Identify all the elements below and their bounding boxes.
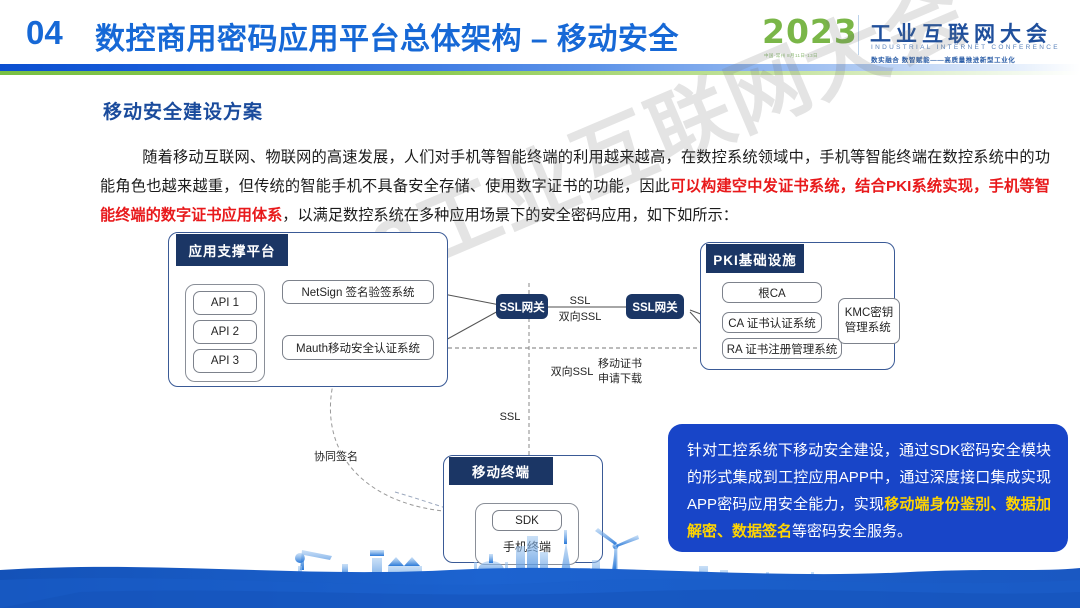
- footer-skyline-decoration: [0, 500, 1080, 608]
- edge-label-mobile-cert: 移动证书 申请下载: [580, 357, 660, 387]
- edge-label-ssl-top: SSL: [560, 294, 600, 309]
- api-2-node[interactable]: API 2: [193, 320, 257, 344]
- netsign-service-node[interactable]: NetSign 签名验签系统: [282, 280, 434, 304]
- group-header-mobile-terminal: 移动终端: [449, 457, 553, 485]
- header-accent-bar-green: [0, 71, 1080, 75]
- api-1-node[interactable]: API 1: [193, 291, 257, 315]
- slide-number: 04: [26, 14, 63, 52]
- header-accent-bar-blue: [0, 64, 1080, 71]
- group-header-app-support-platform: 应用支撑平台: [176, 234, 288, 266]
- ra-cert-register-node[interactable]: RA 证书注册管理系统: [722, 338, 842, 359]
- ssl-gateway-right[interactable]: SSL网关: [626, 294, 684, 319]
- api-3-node[interactable]: API 3: [193, 349, 257, 373]
- edge-label-two-way-ssl-top: 双向SSL: [545, 310, 615, 325]
- mauth-service-node[interactable]: Mauth移动安全认证系统: [282, 335, 434, 360]
- logo-year-subtitle: 中国·常州 8月11日-13日: [764, 53, 818, 59]
- edge-label-ssl-vertical: SSL: [492, 410, 528, 425]
- logo-name-en: INDUSTRIAL INTERNET CONFERENCE: [871, 44, 1060, 51]
- page-title: 数控商用密码应用平台总体架构 – 移动安全: [95, 14, 679, 58]
- body-paragraph: 随着移动互联网、物联网的高速发展，人们对手机等智能终端的利用越来越高，在数控系统…: [100, 143, 1050, 230]
- logo-year-text: 2023: [762, 12, 858, 51]
- slide-header: 04 数控商用密码应用平台总体架构 – 移动安全 2023 中国·常州 8月11…: [0, 0, 1080, 74]
- logo-tagline: 数实融合 数智赋能——高质量推进新型工业化: [871, 54, 1015, 64]
- logo-divider: [858, 15, 859, 55]
- section-title: 移动安全建设方案: [103, 97, 263, 124]
- edge-label-co-sign: 协同签名: [305, 450, 367, 465]
- ca-cert-auth-node[interactable]: CA 证书认证系统: [722, 312, 822, 333]
- root-ca-node[interactable]: 根CA: [722, 282, 822, 303]
- group-header-pki-infrastructure: PKI基础设施: [706, 244, 804, 273]
- ssl-gateway-left[interactable]: SSL网关: [496, 294, 548, 319]
- conference-logo: 2023 中国·常州 8月11日-13日 工业互联网大会 INDUSTRIAL …: [762, 12, 1067, 64]
- kmc-key-management-node[interactable]: KMC密钥 管理系统: [838, 298, 900, 344]
